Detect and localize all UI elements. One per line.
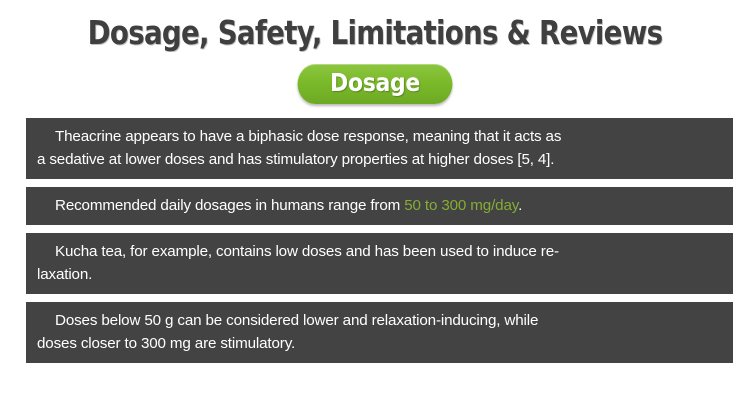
statement-text-segment: .	[518, 197, 522, 214]
statement-box-recommended-daily-dosage: Recommended daily dosages in humans rang…	[26, 187, 733, 225]
statement-box-kucha-tea-low-doses: Kucha tea, for example, contains low dos…	[26, 233, 733, 294]
statement-box-biphasic-dose-response: Theacrine appears to have a biphasic dos…	[26, 118, 733, 179]
statement-line: a sedative at lower doses and has stimul…	[37, 148, 722, 171]
section-badge-container: Dosage	[0, 64, 750, 104]
statement-box-low-vs-high-dose-effects: Doses below 50 g can be considered lower…	[26, 302, 733, 363]
page-title: Dosage, Safety, Limitations & Reviews	[60, 14, 690, 52]
statement-highlight-dosage-range: 50 to 300 mg/day	[404, 197, 518, 214]
section-badge-dosage: Dosage	[298, 64, 453, 104]
statement-list: Theacrine appears to have a biphasic dos…	[26, 118, 733, 363]
slide-root: Dosage, Safety, Limitations & Reviews Do…	[0, 0, 750, 400]
statement-line: laxation.	[37, 263, 722, 286]
statement-line: Theacrine appears to have a biphasic dos…	[37, 125, 722, 148]
statement-line: doses closer to 300 mg are stimulatory.	[37, 332, 722, 355]
statement-line: Kucha tea, for example, contains low dos…	[37, 240, 722, 263]
statement-line: Doses below 50 g can be considered lower…	[37, 309, 722, 332]
statement-line: Recommended daily dosages in humans rang…	[37, 194, 722, 217]
statement-text-segment: Recommended daily dosages in humans rang…	[55, 197, 404, 214]
